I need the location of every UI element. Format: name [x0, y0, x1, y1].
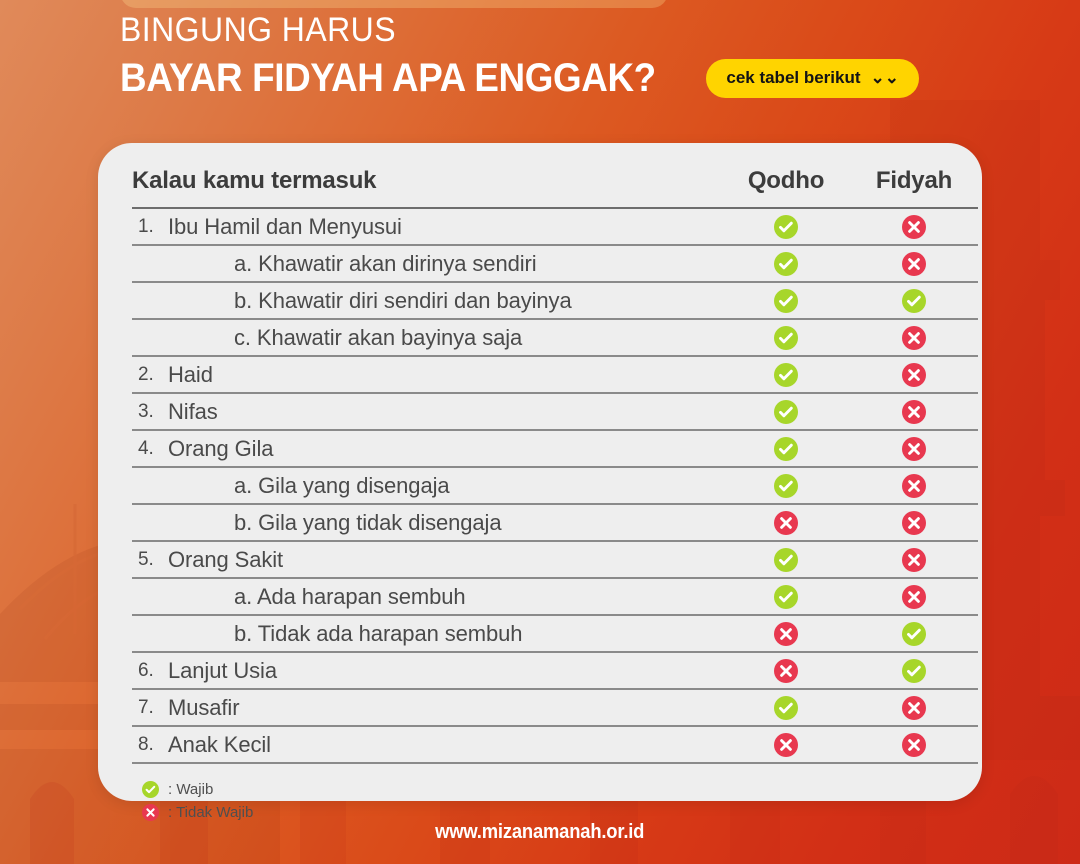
cell-qodho: [722, 319, 850, 356]
legend-label: : Wajib: [168, 778, 213, 801]
row-label: a. Ada harapan sembuh: [168, 586, 466, 608]
page-title: BAYAR FIDYAH APA ENGGAK?: [120, 55, 656, 101]
table-row: b. Tidak ada harapan sembuh: [132, 615, 978, 652]
cell-kategori: 3.Nifas: [132, 393, 722, 430]
cross-circle-icon: [902, 437, 926, 461]
row-number: 4.: [132, 439, 168, 458]
cell-qodho: [722, 467, 850, 504]
cross-circle-icon: [902, 696, 926, 720]
cell-fidyah: [850, 208, 978, 245]
row-label: Nifas: [168, 401, 218, 423]
check-circle-icon: [774, 289, 798, 313]
table-row: a. Ada harapan sembuh: [132, 578, 978, 615]
table-row: 7.Musafir: [132, 689, 978, 726]
cross-circle-icon: [774, 659, 798, 683]
row-number: 1.: [132, 217, 168, 236]
check-circle-icon: [774, 696, 798, 720]
table-header-row: Kalau kamu termasuk Qodho Fidyah: [132, 165, 978, 208]
top-clipped-shape: [120, 0, 668, 8]
cell-kategori: a. Gila yang disengaja: [132, 467, 722, 504]
cek-tabel-badge[interactable]: cek tabel berikut ⌄⌄: [706, 59, 919, 98]
table-row: 2.Haid: [132, 356, 978, 393]
table-head: Kalau kamu termasuk Qodho Fidyah: [132, 165, 978, 208]
row-number: 8.: [132, 735, 168, 754]
cell-kategori: 2.Haid: [132, 356, 722, 393]
cell-qodho: [722, 689, 850, 726]
cross-circle-icon: [774, 733, 798, 757]
kicker-text: BINGUNG HARUS: [120, 12, 910, 49]
cell-fidyah: [850, 578, 978, 615]
cell-qodho: [722, 208, 850, 245]
table-row: b. Gila yang tidak disengaja: [132, 504, 978, 541]
table-row: 1.Ibu Hamil dan Menyusui: [132, 208, 978, 245]
table-row: 4.Orang Gila: [132, 430, 978, 467]
cell-fidyah: [850, 652, 978, 689]
check-circle-icon: [774, 474, 798, 498]
cell-qodho: [722, 356, 850, 393]
cell-qodho: [722, 652, 850, 689]
chevron-double-down-icon: ⌄⌄: [871, 69, 900, 86]
cell-kategori: b. Gila yang tidak disengaja: [132, 504, 722, 541]
cross-circle-icon: [902, 215, 926, 239]
cell-fidyah: [850, 430, 978, 467]
row-label: Lanjut Usia: [168, 660, 277, 682]
row-label: Haid: [168, 364, 213, 386]
check-circle-icon: [142, 781, 159, 798]
cell-qodho: [722, 541, 850, 578]
cross-circle-icon: [774, 511, 798, 535]
cell-fidyah: [850, 689, 978, 726]
cross-circle-icon: [902, 585, 926, 609]
cell-fidyah: [850, 615, 978, 652]
headline-row: BAYAR FIDYAH APA ENGGAK? cek tabel berik…: [120, 55, 960, 101]
cell-fidyah: [850, 467, 978, 504]
check-circle-icon: [774, 585, 798, 609]
cell-kategori: 7.Musafir: [132, 689, 722, 726]
check-circle-icon: [902, 622, 926, 646]
cell-kategori: a. Ada harapan sembuh: [132, 578, 722, 615]
badge-label: cek tabel berikut: [726, 68, 860, 88]
row-label: a. Khawatir akan dirinya sendiri: [168, 253, 537, 275]
check-circle-icon: [774, 215, 798, 239]
cell-kategori: 8.Anak Kecil: [132, 726, 722, 763]
table-row: 8.Anak Kecil: [132, 726, 978, 763]
cell-fidyah: [850, 504, 978, 541]
column-header-fidyah: Fidyah: [850, 165, 978, 208]
table-row: b. Khawatir diri sendiri dan bayinya: [132, 282, 978, 319]
cell-kategori: c. Khawatir akan bayinya saja: [132, 319, 722, 356]
cell-qodho: [722, 430, 850, 467]
poster-canvas: BINGUNG HARUS BAYAR FIDYAH APA ENGGAK? c…: [0, 0, 1080, 864]
row-label: Orang Sakit: [168, 549, 283, 571]
legend-item: : Wajib: [142, 778, 956, 801]
cross-circle-icon: [902, 548, 926, 572]
cross-circle-icon: [902, 252, 926, 276]
cell-kategori: b. Khawatir diri sendiri dan bayinya: [132, 282, 722, 319]
table-body: 1.Ibu Hamil dan Menyusuia. Khawatir akan…: [132, 208, 978, 763]
footer-bar: www.mizanamanah.or.id: [0, 800, 1080, 864]
cell-fidyah: [850, 393, 978, 430]
cell-fidyah: [850, 319, 978, 356]
table-row: a. Gila yang disengaja: [132, 467, 978, 504]
cross-circle-icon: [902, 511, 926, 535]
cell-qodho: [722, 578, 850, 615]
table-row: 3.Nifas: [132, 393, 978, 430]
fidyah-table: Kalau kamu termasuk Qodho Fidyah 1.Ibu H…: [132, 165, 978, 764]
cell-kategori: 6.Lanjut Usia: [132, 652, 722, 689]
row-label: Ibu Hamil dan Menyusui: [168, 216, 402, 238]
cell-qodho: [722, 393, 850, 430]
row-number: 7.: [132, 698, 168, 717]
cell-fidyah: [850, 726, 978, 763]
cell-qodho: [722, 245, 850, 282]
column-header-qodho: Qodho: [722, 165, 850, 208]
cell-fidyah: [850, 245, 978, 282]
row-label: Musafir: [168, 697, 239, 719]
cell-fidyah: [850, 541, 978, 578]
table-row: 5.Orang Sakit: [132, 541, 978, 578]
check-circle-icon: [774, 363, 798, 387]
cross-circle-icon: [902, 363, 926, 387]
fidyah-table-card: Kalau kamu termasuk Qodho Fidyah 1.Ibu H…: [98, 143, 982, 801]
check-circle-icon: [774, 400, 798, 424]
cell-qodho: [722, 282, 850, 319]
row-label: b. Tidak ada harapan sembuh: [168, 623, 522, 645]
row-label: b. Gila yang tidak disengaja: [168, 512, 502, 534]
table-row: a. Khawatir akan dirinya sendiri: [132, 245, 978, 282]
check-circle-icon: [774, 252, 798, 276]
website-url: www.mizanamanah.or.id: [435, 821, 644, 844]
cross-circle-icon: [902, 400, 926, 424]
row-label: Orang Gila: [168, 438, 273, 460]
cross-circle-icon: [902, 474, 926, 498]
cell-kategori: 4.Orang Gila: [132, 430, 722, 467]
row-label: c. Khawatir akan bayinya saja: [168, 327, 522, 349]
column-header-kategori: Kalau kamu termasuk: [132, 165, 722, 208]
poster-header: BINGUNG HARUS BAYAR FIDYAH APA ENGGAK? c…: [120, 12, 960, 101]
cross-circle-icon: [774, 622, 798, 646]
row-number: 3.: [132, 402, 168, 421]
cell-kategori: 1.Ibu Hamil dan Menyusui: [132, 208, 722, 245]
cell-kategori: a. Khawatir akan dirinya sendiri: [132, 245, 722, 282]
cell-fidyah: [850, 356, 978, 393]
check-circle-icon: [902, 289, 926, 313]
row-label: a. Gila yang disengaja: [168, 475, 450, 497]
check-circle-icon: [774, 548, 798, 572]
cross-circle-icon: [902, 326, 926, 350]
cell-qodho: [722, 504, 850, 541]
check-circle-icon: [774, 326, 798, 350]
row-label: Anak Kecil: [168, 734, 271, 756]
cell-qodho: [722, 726, 850, 763]
row-label: b. Khawatir diri sendiri dan bayinya: [168, 290, 572, 312]
check-circle-icon: [774, 437, 798, 461]
row-number: 5.: [132, 550, 168, 569]
cross-circle-icon: [902, 733, 926, 757]
cell-fidyah: [850, 282, 978, 319]
row-number: 2.: [132, 365, 168, 384]
check-circle-icon: [902, 659, 926, 683]
cell-kategori: 5.Orang Sakit: [132, 541, 722, 578]
table-row: 6.Lanjut Usia: [132, 652, 978, 689]
cell-kategori: b. Tidak ada harapan sembuh: [132, 615, 722, 652]
table-row: c. Khawatir akan bayinya saja: [132, 319, 978, 356]
cell-qodho: [722, 615, 850, 652]
row-number: 6.: [132, 661, 168, 680]
